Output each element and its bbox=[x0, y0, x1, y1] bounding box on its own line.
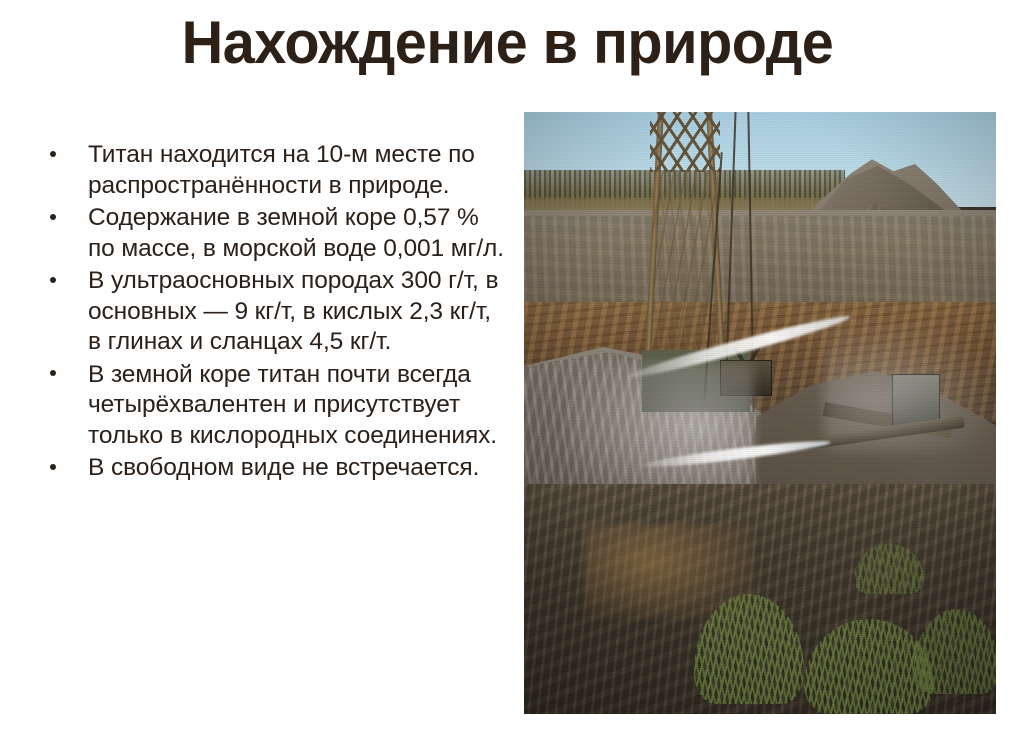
water-mist-right bbox=[824, 322, 994, 452]
list-item: Содержание в земной коре 0,57 % по массе… bbox=[36, 203, 506, 264]
list-item: В ультраосновных породах 300 г/т, в осно… bbox=[36, 266, 506, 358]
bullet-text: В ультраосновных породах 300 г/т, в осно… bbox=[88, 266, 506, 358]
bullet-text: В свободном виде не встречается. bbox=[88, 453, 506, 484]
slide-root: Нахождение в природе Титан находится на … bbox=[0, 0, 1015, 733]
quarry-photograph bbox=[524, 112, 996, 714]
page-title: Нахождение в природе bbox=[20, 8, 994, 78]
bullet-marker-icon bbox=[36, 266, 88, 297]
list-item: В свободном виде не встречается. bbox=[36, 453, 506, 484]
photo-canvas bbox=[524, 112, 996, 714]
bullet-marker-icon bbox=[36, 360, 88, 391]
bullet-marker-icon bbox=[36, 453, 88, 484]
bullet-list: Титан находится на 10-м месте по распрос… bbox=[36, 140, 506, 486]
crane-lattice bbox=[650, 112, 720, 172]
list-item: Титан находится на 10-м месте по распрос… bbox=[36, 140, 506, 201]
bullet-text: В земной коре титан почти всегда четырёх… bbox=[88, 360, 506, 452]
bullet-text: Титан находится на 10-м месте по распрос… bbox=[88, 140, 506, 201]
bullet-marker-icon bbox=[36, 140, 88, 171]
bullet-marker-icon bbox=[36, 203, 88, 234]
list-item: В земной коре титан почти всегда четырёх… bbox=[36, 360, 506, 452]
bullet-text: Содержание в земной коре 0,57 % по массе… bbox=[88, 203, 506, 264]
